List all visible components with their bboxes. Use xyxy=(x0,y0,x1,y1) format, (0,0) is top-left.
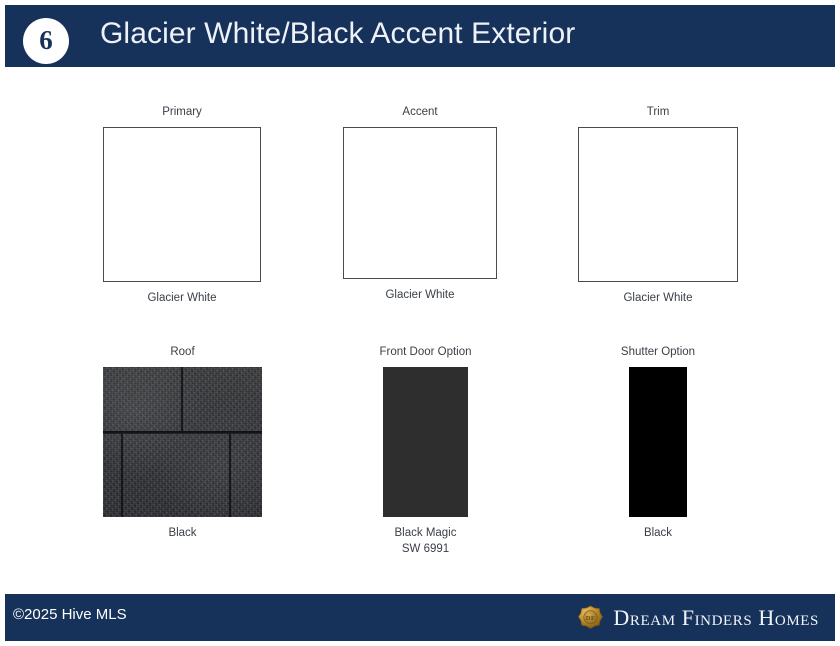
swatch-chip-trim[interactable] xyxy=(578,127,738,282)
swatch-label-roof: Roof xyxy=(170,345,194,359)
roof-notch-lower-a xyxy=(121,434,123,517)
swatch-board: Primary Glacier White Accent Glacier Whi… xyxy=(0,67,840,594)
swatch-caption-front-door-code: SW 6991 xyxy=(395,542,457,558)
swatch-chip-front-door[interactable] xyxy=(383,367,468,517)
swatch-label-front-door: Front Door Option xyxy=(379,345,471,359)
swatch-cell-accent: Accent Glacier White xyxy=(343,105,497,304)
swatch-caption-primary: Glacier White xyxy=(147,291,216,307)
roof-notch-upper xyxy=(181,367,183,431)
brand-name: Dream Finders Homes xyxy=(613,607,819,629)
footer-band: ©2025 Hive MLS DF Drea xyxy=(5,594,835,641)
swatch-chip-primary[interactable] xyxy=(103,127,261,282)
swatch-cell-trim: Trim Glacier White xyxy=(578,105,738,307)
color-selection-board: 6 Glacier White/Black Accent Exterior Pr… xyxy=(0,0,840,646)
roof-notch-lower-b xyxy=(229,434,231,517)
swatch-caption-trim: Glacier White xyxy=(623,291,692,307)
swatch-cell-front-door: Front Door Option Black Magic SW 6991 xyxy=(383,345,468,557)
swatch-cell-primary: Primary Glacier White xyxy=(103,105,261,307)
swatch-caption-front-door-name: Black Magic xyxy=(395,527,457,539)
roof-seam-line xyxy=(103,431,262,434)
swatch-cell-roof: Roof Black xyxy=(103,345,262,542)
brand-logo: DF Dream Finders Homes xyxy=(577,601,819,635)
swatch-chip-accent[interactable] xyxy=(343,127,497,279)
swatch-caption-accent: Glacier White xyxy=(385,288,454,304)
swatch-label-trim: Trim xyxy=(647,105,670,119)
swatch-label-primary: Primary xyxy=(162,105,202,119)
swatch-caption-shutter: Black xyxy=(644,526,672,542)
svg-text:DF: DF xyxy=(586,614,595,621)
swatch-label-shutter: Shutter Option xyxy=(621,345,695,359)
footer-copyright: ©2025 Hive MLS xyxy=(13,606,127,623)
header-number-badge: 6 xyxy=(23,18,69,64)
swatch-label-accent: Accent xyxy=(402,105,437,119)
swatch-chip-roof[interactable] xyxy=(103,367,262,517)
page-title: Glacier White/Black Accent Exterior xyxy=(100,17,575,51)
swatch-caption-front-door: Black Magic SW 6991 xyxy=(395,526,457,557)
header-number-label: 6 xyxy=(39,27,53,54)
wax-seal-icon: DF xyxy=(577,605,604,632)
swatch-cell-shutter: Shutter Option Black xyxy=(629,345,687,542)
swatch-caption-roof: Black xyxy=(168,526,196,542)
swatch-chip-shutter[interactable] xyxy=(629,367,687,517)
